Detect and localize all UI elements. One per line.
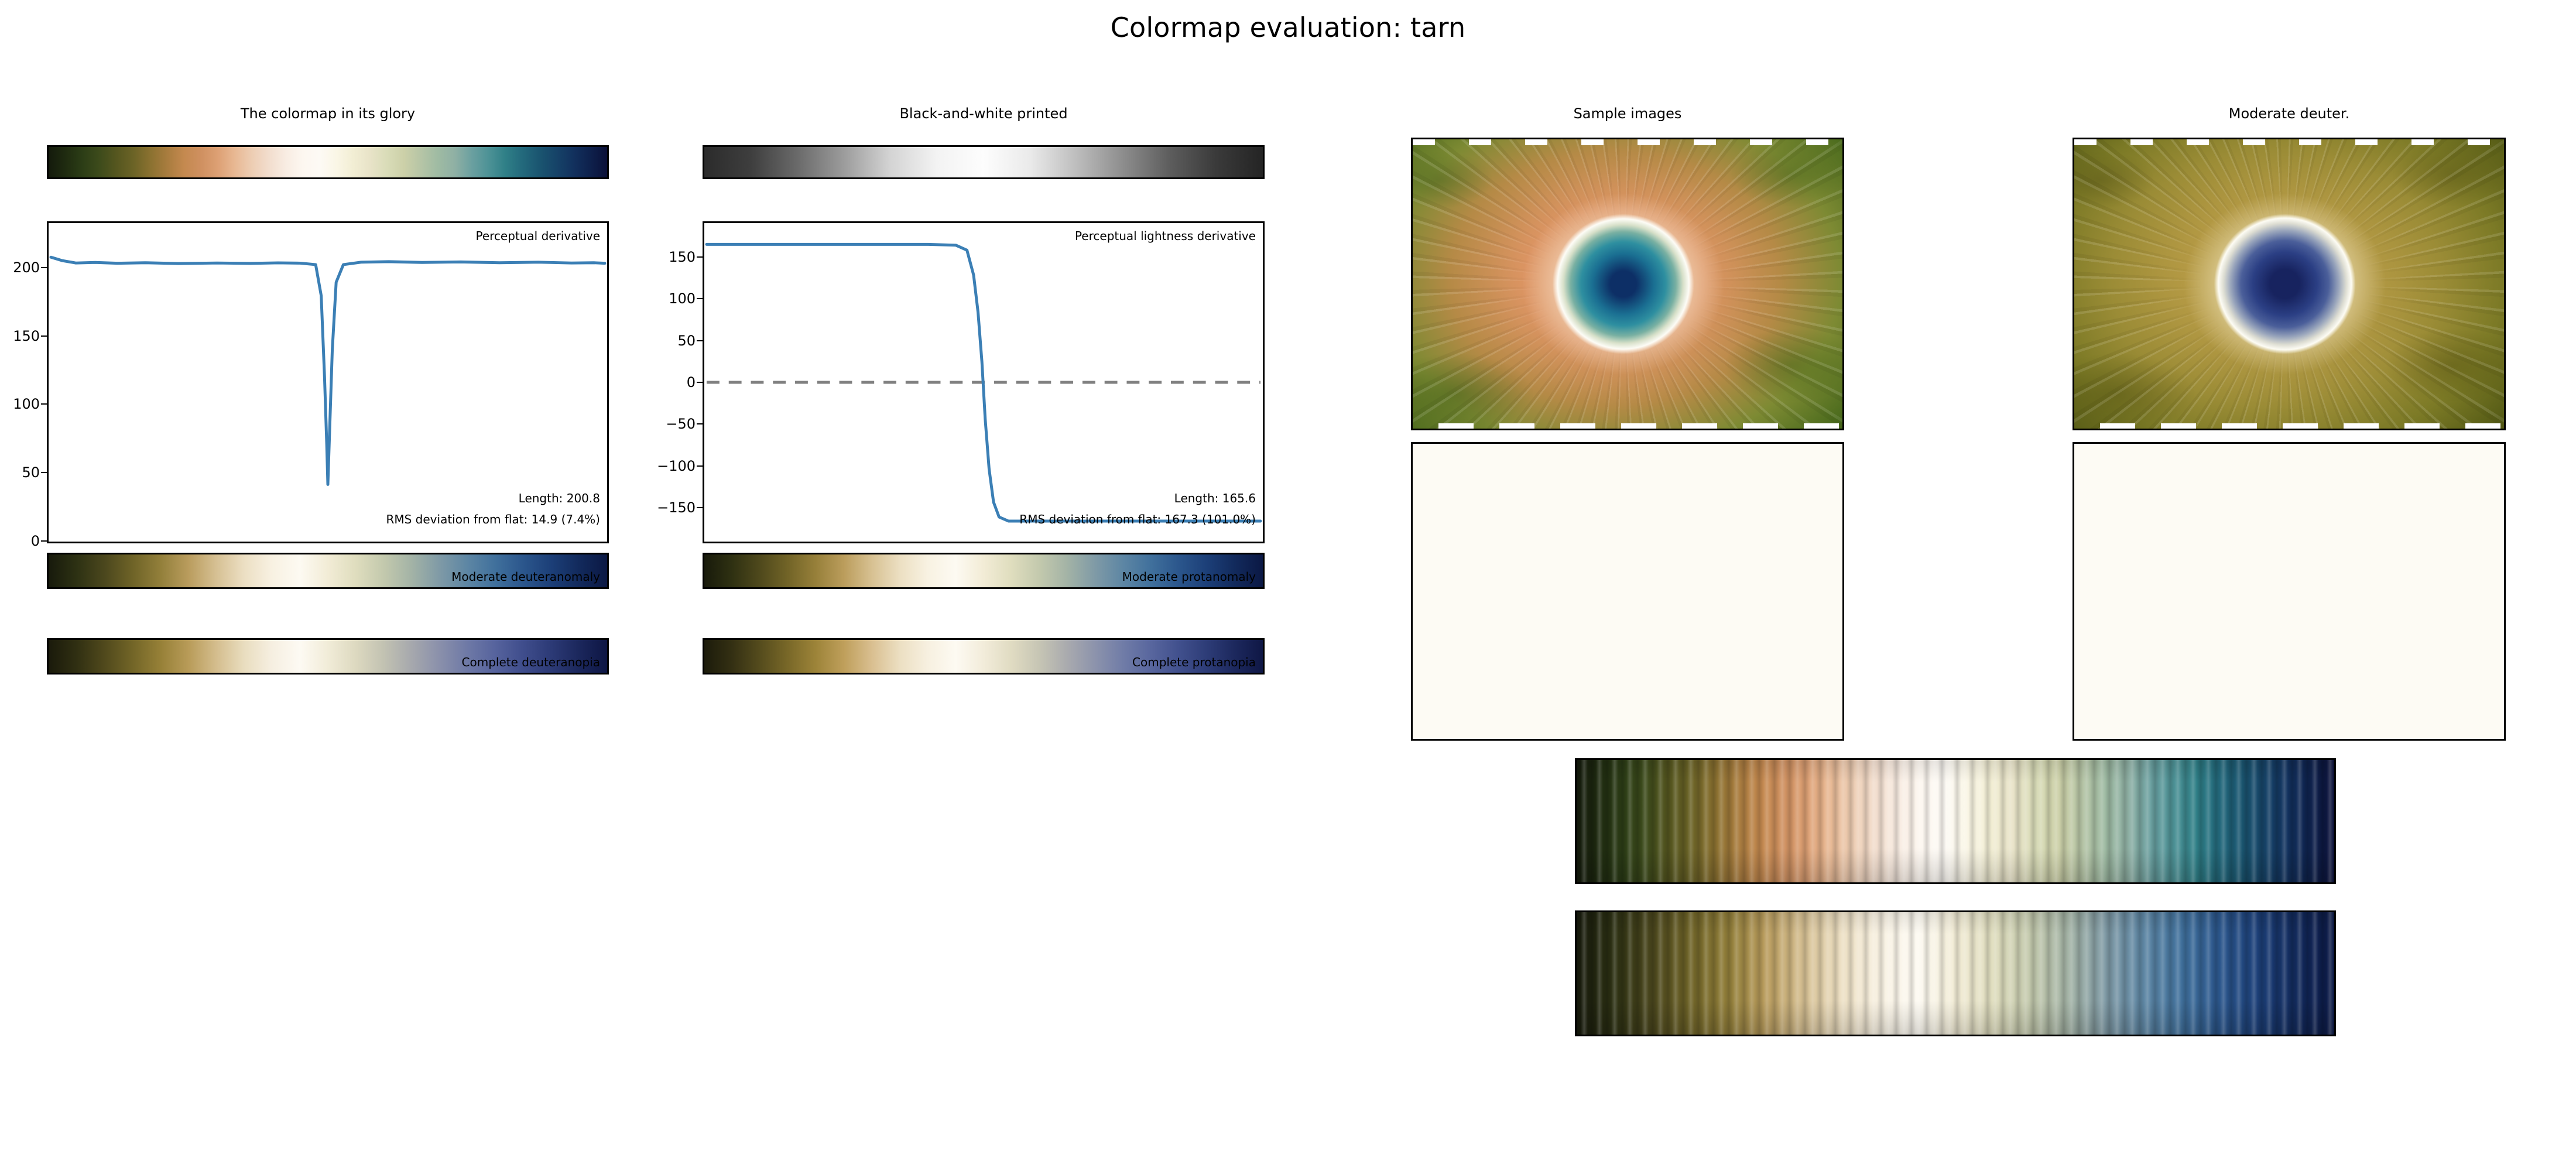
column-title-moderate-deuter: Moderate deuter. <box>2073 105 2506 122</box>
chirp-render <box>1413 444 1842 739</box>
chirp-render-deuter <box>2074 444 2504 739</box>
ripple-overlay-color <box>1577 760 2334 882</box>
ripple-bar-deuter <box>1575 910 2336 1036</box>
terrain-bottom-edge-noise <box>1413 423 1842 429</box>
perceptual-rms: RMS deviation from flat: 14.9 (7.4%) <box>386 512 600 526</box>
ytick-mark <box>697 340 703 341</box>
scatter3d-plot <box>187 755 1136 1153</box>
cvd-label-protanomaly: Moderate protanomaly <box>1122 570 1256 584</box>
scatter3d-panel <box>187 755 1136 1153</box>
ytick-mark <box>697 507 703 508</box>
cvd-bar-protanomaly: Moderate protanomaly <box>703 553 1265 589</box>
ytick-label: 50 <box>657 333 696 349</box>
column-title-sample-images: Sample images <box>1411 105 1844 122</box>
cvd-label-deuteranomaly: Moderate deuteranomaly <box>451 570 600 584</box>
colormap-swatch-grayscale <box>703 145 1265 179</box>
sample-image-chirp <box>1411 442 1844 741</box>
ytick-label: −100 <box>657 458 696 474</box>
lightness-derivative-axes: Perceptual lightness derivative Length: … <box>703 221 1265 543</box>
lightness-length: Length: 165.6 <box>1174 491 1256 505</box>
perceptual-derivative-axes: Perceptual derivative Length: 200.8 RMS … <box>47 221 609 543</box>
ytick-mark <box>697 423 703 424</box>
colormap-swatch-glory <box>47 145 609 179</box>
ytick-mark <box>41 267 47 268</box>
ytick-label: 0 <box>1 533 40 549</box>
sample-image-chirp-deuter <box>2073 442 2506 741</box>
ytick-mark <box>41 335 47 337</box>
ytick-label: 150 <box>657 249 696 265</box>
sample-image-terrain-deuter <box>2073 138 2506 430</box>
lightness-legend: Perceptual lightness derivative <box>1075 229 1256 243</box>
perceptual-legend: Perceptual derivative <box>475 229 600 243</box>
ytick-mark <box>697 256 703 258</box>
sample-image-terrain <box>1411 138 1844 430</box>
terrain-veins <box>1413 139 1842 429</box>
terrain-render-deuter <box>2074 139 2504 429</box>
ripple-bar-color <box>1575 758 2336 884</box>
terrain-top-edge-noise <box>1413 139 1842 145</box>
terrain-render <box>1413 139 1842 429</box>
terrain-veins-deuter <box>2074 139 2504 429</box>
ytick-label: −50 <box>657 416 696 432</box>
terrain-bottom-edge-noise-deuter <box>2074 423 2504 429</box>
page-title: Colormap evaluation: tarn <box>0 12 2576 43</box>
ytick-mark <box>697 298 703 299</box>
perceptual-length: Length: 200.8 <box>519 491 600 505</box>
cvd-bar-protanopia: Complete protanopia <box>703 638 1265 674</box>
ripple-overlay-deuter <box>1577 912 2334 1035</box>
ytick-label: 200 <box>1 259 40 276</box>
ytick-mark <box>697 465 703 467</box>
ytick-label: 150 <box>1 328 40 344</box>
ytick-mark <box>697 382 703 383</box>
ytick-label: 100 <box>657 290 696 307</box>
ytick-label: −150 <box>657 499 696 516</box>
terrain-top-edge-noise-deuter <box>2074 139 2504 145</box>
cvd-label-deuteranopia: Complete deuteranopia <box>462 655 600 669</box>
cvd-bar-deuteranomaly: Moderate deuteranomaly <box>47 553 609 589</box>
lightness-rms: RMS deviation from flat: 167.3 (101.0%) <box>1019 512 1256 526</box>
ytick-label: 100 <box>1 396 40 412</box>
column-title-bw: Black-and-white printed <box>703 105 1265 122</box>
column-title-glory: The colormap in its glory <box>47 105 609 122</box>
ytick-mark <box>41 403 47 405</box>
ytick-mark <box>41 472 47 473</box>
ytick-label: 50 <box>1 464 40 481</box>
cvd-bar-deuteranopia: Complete deuteranopia <box>47 638 609 674</box>
ytick-mark <box>41 540 47 542</box>
cvd-label-protanopia: Complete protanopia <box>1132 655 1256 669</box>
ytick-label: 0 <box>657 374 696 391</box>
